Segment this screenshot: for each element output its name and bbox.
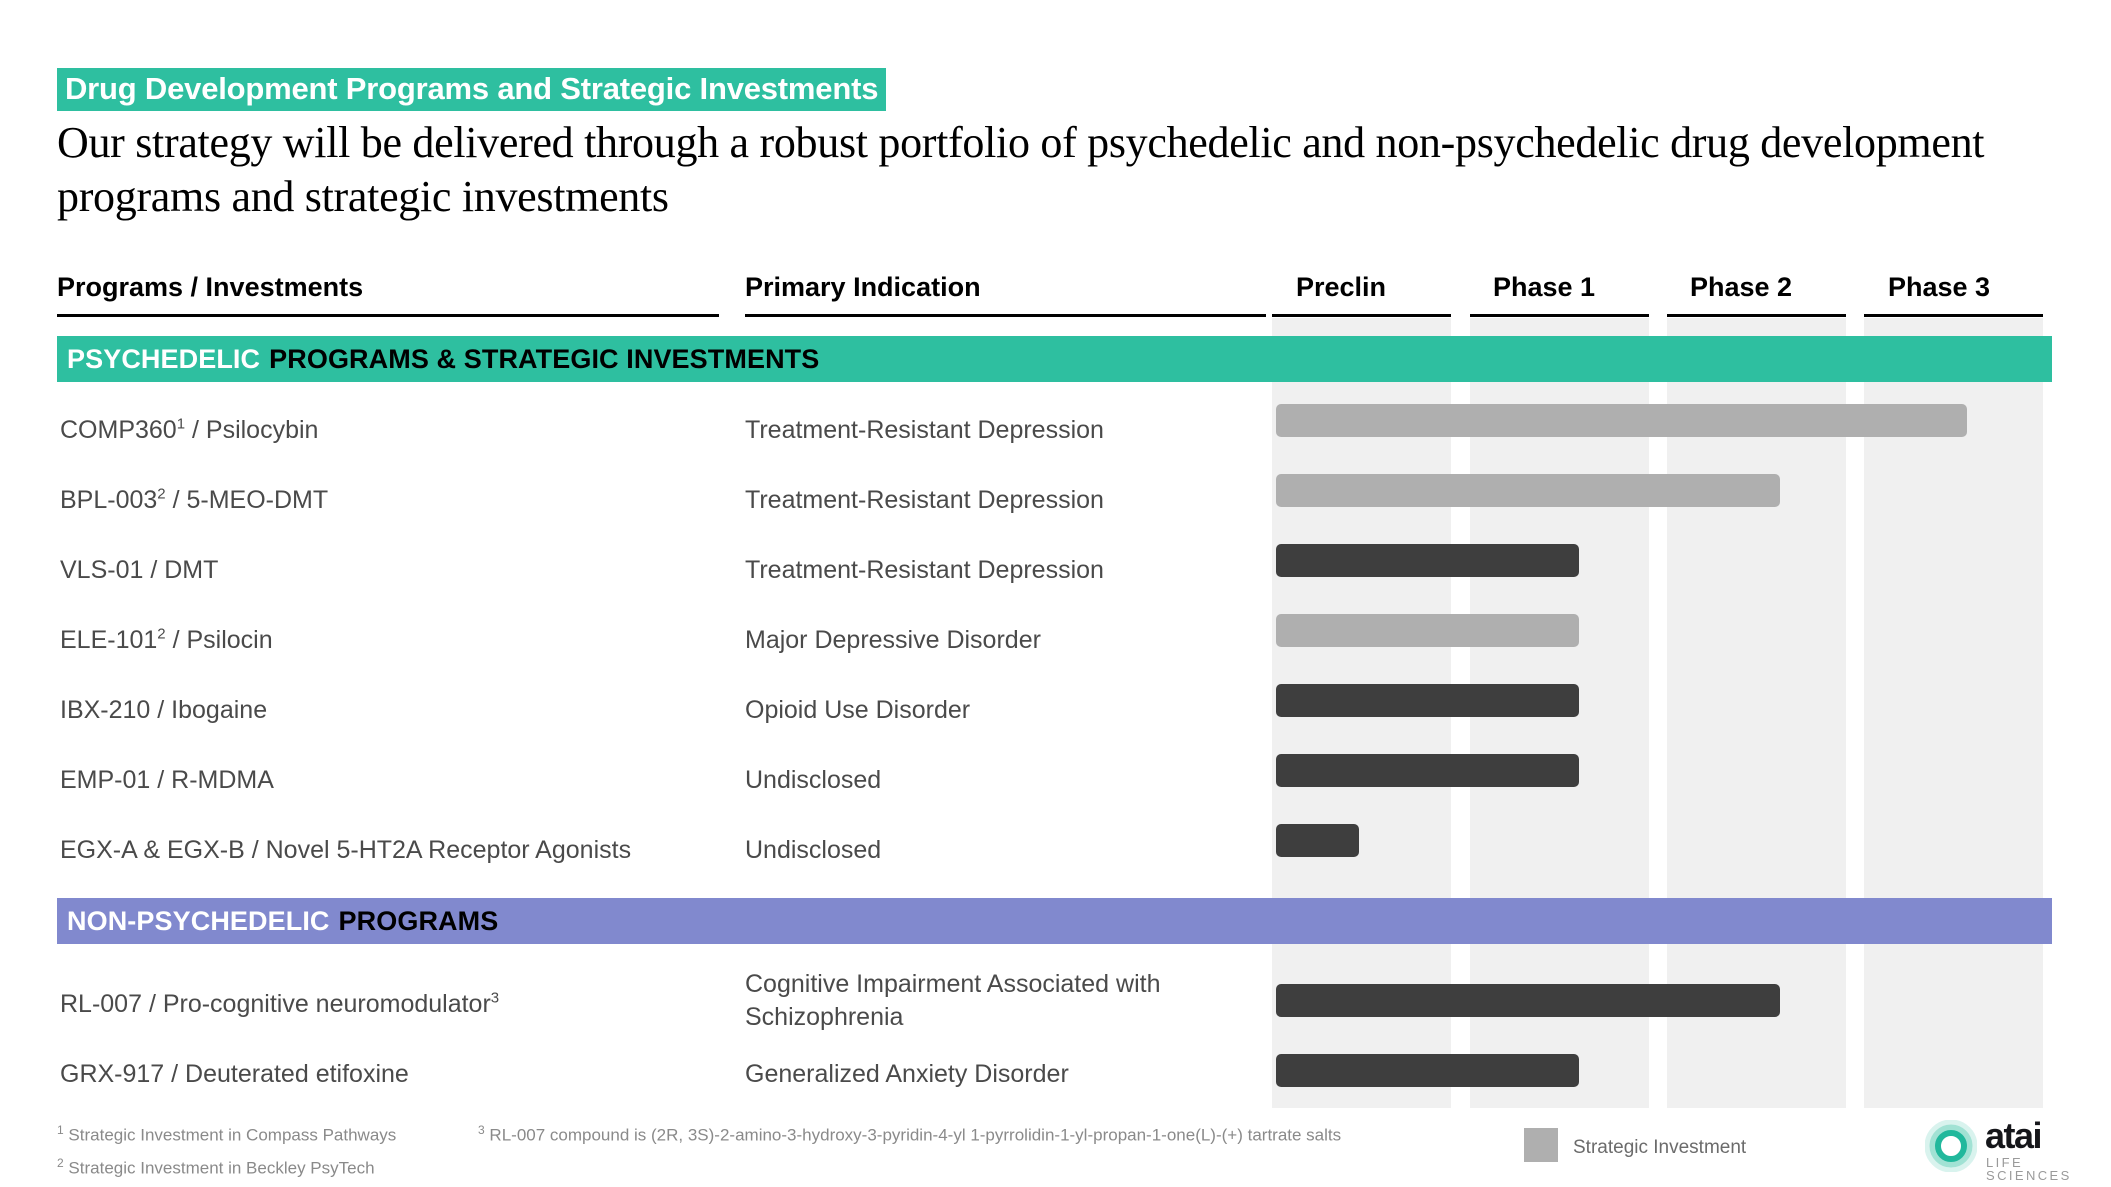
footnote-marker-1: 1: [57, 1123, 64, 1137]
table-row-indication-5: Undisclosed: [745, 764, 881, 797]
pipeline-bar-4: [1276, 684, 1579, 717]
footnote-marker-2: 2: [57, 1156, 64, 1170]
program-name-4: IBX-210 / Ibogaine: [60, 696, 267, 724]
table-row-program-4: IBX-210 / Ibogaine: [60, 694, 267, 727]
program-footnote-marker-7: 3: [491, 990, 499, 1007]
column-header-preclin: Preclin: [1296, 272, 1386, 303]
table-row-indication-2: Treatment-Resistant Depression: [745, 554, 1104, 587]
table-row-program-3: ELE-1012 / Psilocin: [60, 624, 273, 657]
table-row-indication-0: Treatment-Resistant Depression: [745, 414, 1104, 447]
eyebrow-title: Drug Development Programs and Strategic …: [57, 68, 886, 111]
table-row-indication-8: Generalized Anxiety Disorder: [745, 1058, 1069, 1091]
atai-ring-icon: [1925, 1120, 1977, 1172]
table-row-program-0: COMP3601 / Psilocybin: [60, 414, 318, 447]
program-tail-1: / 5-MEO-DMT: [166, 486, 329, 514]
program-name-3: ELE-101: [60, 626, 157, 654]
footnote-1: 1 Strategic Investment in Compass Pathwa…: [57, 1123, 396, 1146]
page-title: Our strategy will be delivered through a…: [57, 116, 2047, 223]
column-rule-phase3: [1864, 314, 2043, 317]
program-name-6: EGX-A & EGX-B / Novel 5-HT2A Receptor Ag…: [60, 836, 631, 864]
table-row-indication-6: Undisclosed: [745, 834, 881, 867]
program-name-8: GRX-917 / Deuterated etifoxine: [60, 1060, 409, 1088]
footnote-2: 2 Strategic Investment in Beckley PsyTec…: [57, 1156, 375, 1179]
slide-root: Drug Development Programs and Strategic …: [0, 0, 2111, 1187]
column-header-indication: Primary Indication: [745, 272, 981, 303]
column-rule-indication: [745, 314, 1266, 317]
program-name-7: RL-007 / Pro-cognitive neuromodulator: [60, 990, 491, 1018]
column-rule-preclin: [1272, 314, 1451, 317]
pipeline-bar-1: [1276, 474, 1780, 507]
pipeline-bar-3: [1276, 614, 1579, 647]
section-highlight-psychedelic: PSYCHEDELIC: [67, 344, 260, 375]
footnote-text-1: Strategic Investment in Compass Pathways: [68, 1126, 396, 1145]
table-row-program-1: BPL-0032 / 5-MEO-DMT: [60, 484, 328, 517]
pipeline-bar-7: [1276, 984, 1780, 1017]
section-rest-non-psychedelic: PROGRAMS: [339, 906, 499, 937]
footnote-text-2: Strategic Investment in Beckley PsyTech: [68, 1159, 374, 1178]
program-footnote-marker-1: 2: [157, 486, 165, 503]
legend-label-strategic-investment: Strategic Investment: [1573, 1137, 1746, 1159]
section-highlight-non-psychedelic: NON-PSYCHEDELIC: [67, 906, 330, 937]
footnote-text-3: RL-007 compound is (2R, 3S)-2-amino-3-hy…: [489, 1126, 1341, 1145]
legend-swatch-strategic-investment: [1524, 1128, 1558, 1162]
column-rule-programs: [57, 314, 719, 317]
atai-tagline: LIFE SCIENCES: [1986, 1156, 2085, 1182]
column-header-phase2: Phase 2: [1690, 272, 1792, 303]
column-rule-phase2: [1667, 314, 1846, 317]
footnote-marker-3: 3: [478, 1123, 485, 1137]
column-header-programs: Programs / Investments: [57, 272, 363, 303]
program-tail-3: / Psilocin: [166, 626, 273, 654]
table-row-indication-4: Opioid Use Disorder: [745, 694, 970, 727]
table-row-indication-1: Treatment-Resistant Depression: [745, 484, 1104, 517]
pipeline-bar-8: [1276, 1054, 1579, 1087]
program-name-5: EMP-01 / R-MDMA: [60, 766, 274, 794]
pipeline-bar-6: [1276, 824, 1359, 857]
column-rule-phase1: [1470, 314, 1649, 317]
table-row-program-5: EMP-01 / R-MDMA: [60, 764, 274, 797]
table-row-indication-3: Major Depressive Disorder: [745, 624, 1041, 657]
table-row-program-8: GRX-917 / Deuterated etifoxine: [60, 1058, 409, 1091]
table-row-program-6: EGX-A & EGX-B / Novel 5-HT2A Receptor Ag…: [60, 834, 631, 867]
section-rest-psychedelic: PROGRAMS & STRATEGIC INVESTMENTS: [269, 344, 819, 375]
table-row-program-7: RL-007 / Pro-cognitive neuromodulator3: [60, 988, 499, 1021]
program-name-0: COMP360: [60, 416, 177, 444]
footnote-3: 3 RL-007 compound is (2R, 3S)-2-amino-3-…: [478, 1123, 1341, 1146]
program-tail-0: / Psilocybin: [185, 416, 318, 444]
program-footnote-marker-3: 2: [157, 626, 165, 643]
pipeline-bar-0: [1276, 404, 1967, 437]
program-footnote-marker-0: 1: [177, 416, 185, 433]
atai-logo: atai LIFE SCIENCES: [1925, 1118, 2085, 1176]
pipeline-bar-2: [1276, 544, 1579, 577]
atai-wordmark: atai: [1985, 1118, 2041, 1154]
section-header-psychedelic: PSYCHEDELIC PROGRAMS & STRATEGIC INVESTM…: [57, 336, 2052, 382]
column-header-phase3: Phase 3: [1888, 272, 1990, 303]
table-row-program-2: VLS-01 / DMT: [60, 554, 218, 587]
program-name-2: VLS-01 / DMT: [60, 556, 218, 584]
program-name-1: BPL-003: [60, 486, 157, 514]
table-row-indication-7: Cognitive Impairment Associated with Sch…: [745, 968, 1175, 1034]
column-header-phase1: Phase 1: [1493, 272, 1595, 303]
section-header-non-psychedelic: NON-PSYCHEDELIC PROGRAMS: [57, 898, 2052, 944]
pipeline-bar-5: [1276, 754, 1579, 787]
